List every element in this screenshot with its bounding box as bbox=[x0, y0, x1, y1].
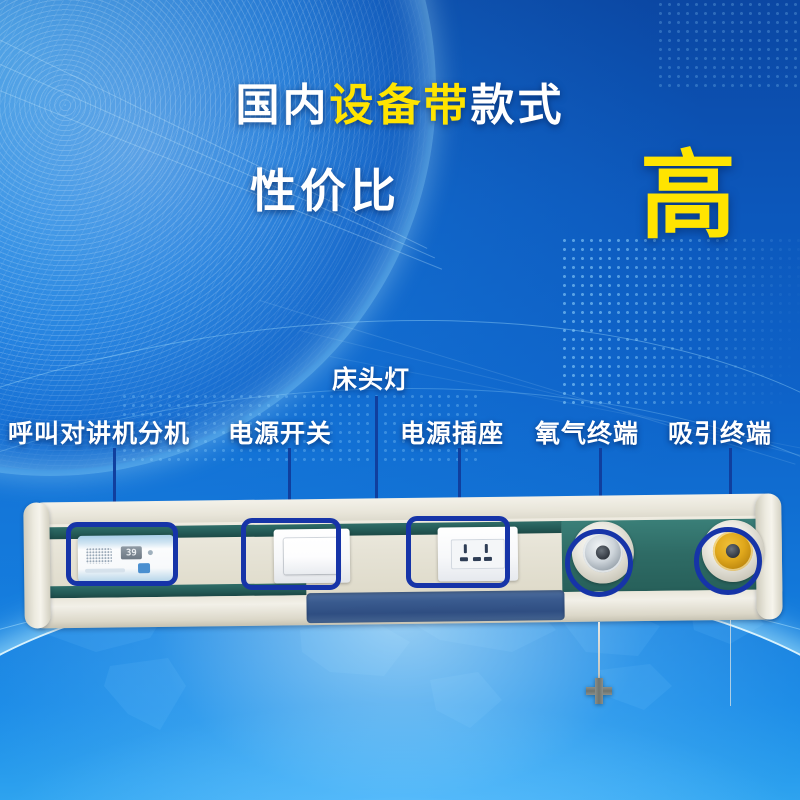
promo-image: 国内设备带款式 性价比 高 呼叫对讲机分机 电源开关 床头灯 电源插座 氧气终端… bbox=[0, 0, 800, 800]
headline-part-1: 国内 bbox=[236, 80, 330, 131]
suction-tube bbox=[730, 620, 731, 706]
annotation-circle-oxygen bbox=[565, 529, 633, 597]
annotation-box-power-switch bbox=[241, 518, 341, 590]
pull-cord-fitting-icon bbox=[586, 678, 612, 704]
callout-label-oxygen-terminal: 氧气终端 bbox=[535, 414, 639, 450]
halftone-dots bbox=[656, 0, 800, 90]
callout-label-power-socket: 电源插座 bbox=[400, 414, 504, 450]
panel-end-cap-left bbox=[23, 502, 51, 628]
annotation-box-power-socket bbox=[406, 516, 510, 588]
callout-label-power-switch: 电源开关 bbox=[228, 414, 332, 450]
halftone-dots bbox=[560, 236, 800, 406]
annotation-box-intercom bbox=[66, 522, 178, 586]
callout-label-intercom: 呼叫对讲机分机 bbox=[8, 414, 190, 450]
annotation-circle-suction bbox=[694, 527, 762, 595]
headline: 国内设备带款式 bbox=[0, 84, 800, 128]
highlight-char: 高 bbox=[640, 148, 736, 244]
bed-lamp-diffuser bbox=[306, 590, 564, 623]
callout-label-suction-terminal: 吸引终端 bbox=[668, 414, 772, 450]
headline-highlight: 设备带 bbox=[330, 80, 471, 131]
callout-label-bed-lamp: 床头灯 bbox=[332, 360, 410, 396]
headline-part-3: 款式 bbox=[471, 80, 565, 131]
